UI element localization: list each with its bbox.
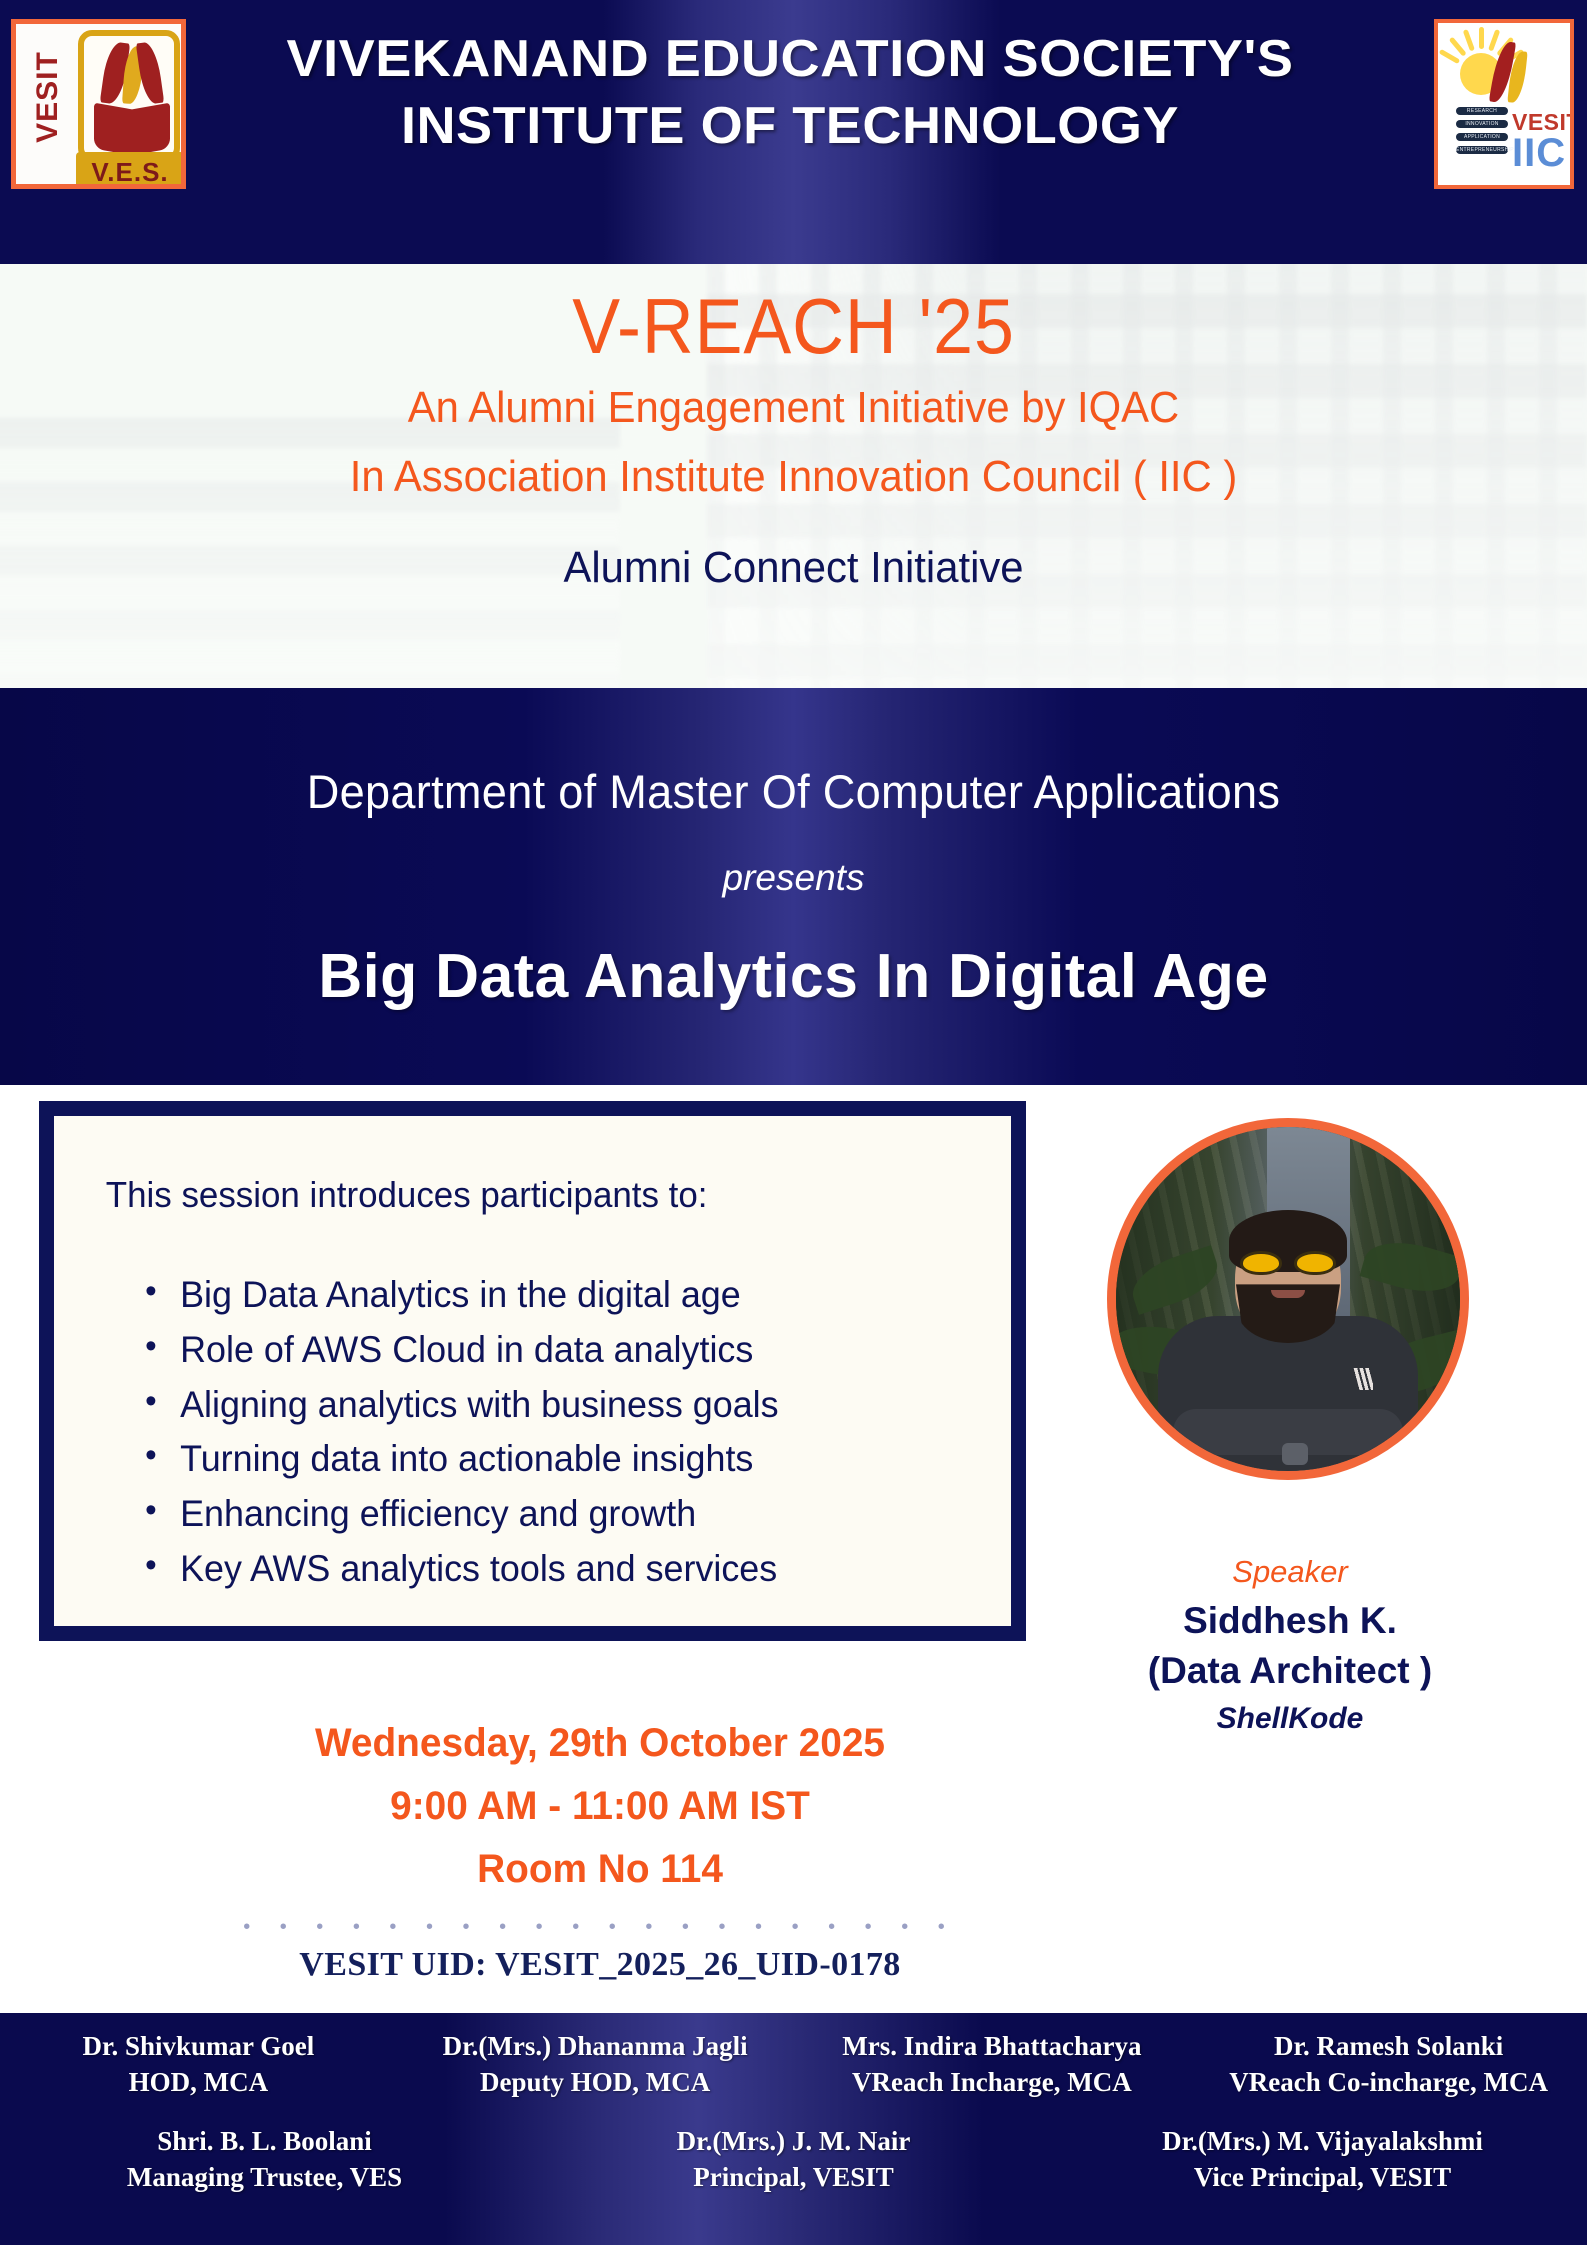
footer-person: Dr. Shivkumar Goel HOD, MCA xyxy=(0,2029,397,2100)
footer-person: Dr. Ramesh Solanki VReach Co-incharge, M… xyxy=(1190,2029,1587,2100)
footer-person-designation: Vice Principal, VESIT xyxy=(1058,2160,1587,2196)
hero-subtitle-1: An Alumni Engagement Initiative by IQAC xyxy=(40,378,1548,437)
sun-ray-icon xyxy=(1479,27,1484,49)
speaker-organization: ShellKode xyxy=(1080,1702,1500,1736)
event-venue: Room No 114 xyxy=(173,1838,1027,1901)
speaker-role-label: Speaker xyxy=(1080,1554,1500,1590)
coil-icon: RESEARCH INNOVATION APPLICATION ENTREPRE… xyxy=(1456,107,1508,173)
session-topic-list: Big Data Analytics in the digital age Ro… xyxy=(132,1268,1011,1597)
coil-word: APPLICATION xyxy=(1456,133,1508,141)
vesit-uid: VESIT UID: VESIT_2025_26_UID-0178 xyxy=(160,1946,1040,1984)
hero-section: V-REACH '25 An Alumni Engagement Initiat… xyxy=(0,264,1587,688)
presents-label: presents xyxy=(0,857,1587,899)
institute-header-bar: VESIT V.E.S. Since 1962 VIVEKANAND EDUCA… xyxy=(0,0,1587,264)
sunglasses-icon xyxy=(1240,1251,1336,1275)
footer-row-2: Shri. B. L. Boolani Managing Trustee, VE… xyxy=(0,2100,1587,2195)
event-time: 9:00 AM - 11:00 AM IST xyxy=(173,1775,1027,1838)
sun-ray-icon xyxy=(1439,49,1461,64)
session-details-box: This session introduces participants to:… xyxy=(40,1102,1025,1640)
footer-person-designation: VReach Incharge, MCA xyxy=(794,2065,1191,2101)
iic-logo-label-iic: IIC xyxy=(1512,131,1566,176)
wristwatch-icon xyxy=(1282,1443,1308,1465)
speaker-avatar xyxy=(1107,1118,1469,1480)
footer-person: Dr.(Mrs.) J. M. Nair Principal, VESIT xyxy=(529,2124,1058,2195)
book-icon xyxy=(132,103,170,156)
list-item: Key AWS analytics tools and services xyxy=(145,1542,998,1597)
footer-person-name: Dr. Shivkumar Goel xyxy=(0,2029,397,2065)
footer-person-name: Dr.(Mrs.) J. M. Nair xyxy=(529,2124,1058,2160)
footer-person-designation: Principal, VESIT xyxy=(529,2160,1058,2196)
list-item: Turning data into actionable insights xyxy=(145,1432,998,1487)
event-banner-section: Department of Master Of Computer Applica… xyxy=(0,688,1587,1085)
sun-ray-icon xyxy=(1449,37,1467,57)
footer-person-name: Shri. B. L. Boolani xyxy=(0,2124,529,2160)
hero-text-block: V-REACH '25 An Alumni Engagement Initiat… xyxy=(0,286,1587,593)
coil-word: RESEARCH xyxy=(1456,107,1508,115)
coil-word: INNOVATION xyxy=(1456,120,1508,128)
header-title-line1: VIVEKANAND EDUCATION SOCIETY'S xyxy=(286,30,1293,88)
tshirt-brand-logo-icon xyxy=(1343,1368,1373,1390)
event-title: Big Data Analytics In Digital Age xyxy=(16,941,1571,1012)
footer-row-1: Dr. Shivkumar Goel HOD, MCA Dr.(Mrs.) Dh… xyxy=(0,2013,1587,2100)
footer-person: Mrs. Indira Bhattacharya VReach Incharge… xyxy=(794,2029,1191,2100)
book-icon xyxy=(94,103,132,156)
schedule-block: Wednesday, 29th October 2025 9:00 AM - 1… xyxy=(160,1712,1040,1902)
list-item: Role of AWS Cloud in data analytics xyxy=(145,1323,998,1378)
hero-tagline: Alumni Connect Initiative xyxy=(40,543,1548,593)
footer-person: Dr.(Mrs.) M. Vijayalakshmi Vice Principa… xyxy=(1058,2124,1587,2195)
session-lead-text: This session introduces participants to: xyxy=(106,1174,997,1216)
sun-ray-icon xyxy=(1488,29,1500,51)
list-item: Aligning analytics with business goals xyxy=(145,1378,998,1433)
footer-person: Shri. B. L. Boolani Managing Trustee, VE… xyxy=(0,2124,529,2195)
dotted-divider: • • • • • • • • • • • • • • • • • • • • xyxy=(160,1916,1040,1939)
footer-person-name: Dr.(Mrs.) M. Vijayalakshmi xyxy=(1058,2124,1587,2160)
sun-ray-icon xyxy=(1463,29,1475,51)
footer-person-designation: Deputy HOD, MCA xyxy=(397,2065,794,2101)
footer-person-designation: Managing Trustee, VES xyxy=(0,2160,529,2196)
event-date: Wednesday, 29th October 2025 xyxy=(173,1712,1027,1775)
department-name: Department of Master Of Computer Applica… xyxy=(32,764,1556,819)
footer-person-name: Mrs. Indira Bhattacharya xyxy=(794,2029,1191,2065)
vesit-logo: VESIT V.E.S. Since 1962 xyxy=(11,19,186,189)
coil-word: ENTREPRENEURSHIP xyxy=(1456,146,1508,154)
header-title-line2: INSTITUTE OF TECHNOLOGY xyxy=(166,93,1414,160)
list-item: Big Data Analytics in the digital age xyxy=(145,1268,998,1323)
footer-person: Dr.(Mrs.) Dhananma Jagli Deputy HOD, MCA xyxy=(397,2029,794,2100)
vesit-logo-vertical-text: VESIT xyxy=(31,37,65,157)
footer-person-name: Dr.(Mrs.) Dhananma Jagli xyxy=(397,2029,794,2065)
page-title: VIVEKANAND EDUCATION SOCIETY'S INSTITUTE… xyxy=(166,26,1414,159)
speaker-name: Siddhesh K. xyxy=(1080,1600,1500,1642)
footer-person-designation: VReach Co-incharge, MCA xyxy=(1190,2065,1587,2101)
speaker-designation: (Data Architect ) xyxy=(1080,1650,1500,1692)
hero-subtitle-2: In Association Institute Innovation Coun… xyxy=(40,447,1548,506)
list-item: Enhancing efficiency and growth xyxy=(145,1487,998,1542)
speaker-mouth xyxy=(1271,1290,1305,1298)
footer-signatories: Dr. Shivkumar Goel HOD, MCA Dr.(Mrs.) Dh… xyxy=(0,2013,1587,2245)
vesit-iic-logo: RESEARCH INNOVATION APPLICATION ENTREPRE… xyxy=(1434,19,1574,189)
footer-person-designation: HOD, MCA xyxy=(0,2065,397,2101)
footer-person-name: Dr. Ramesh Solanki xyxy=(1190,2029,1587,2065)
event-brand-title: V-REACH '25 xyxy=(63,286,1523,368)
